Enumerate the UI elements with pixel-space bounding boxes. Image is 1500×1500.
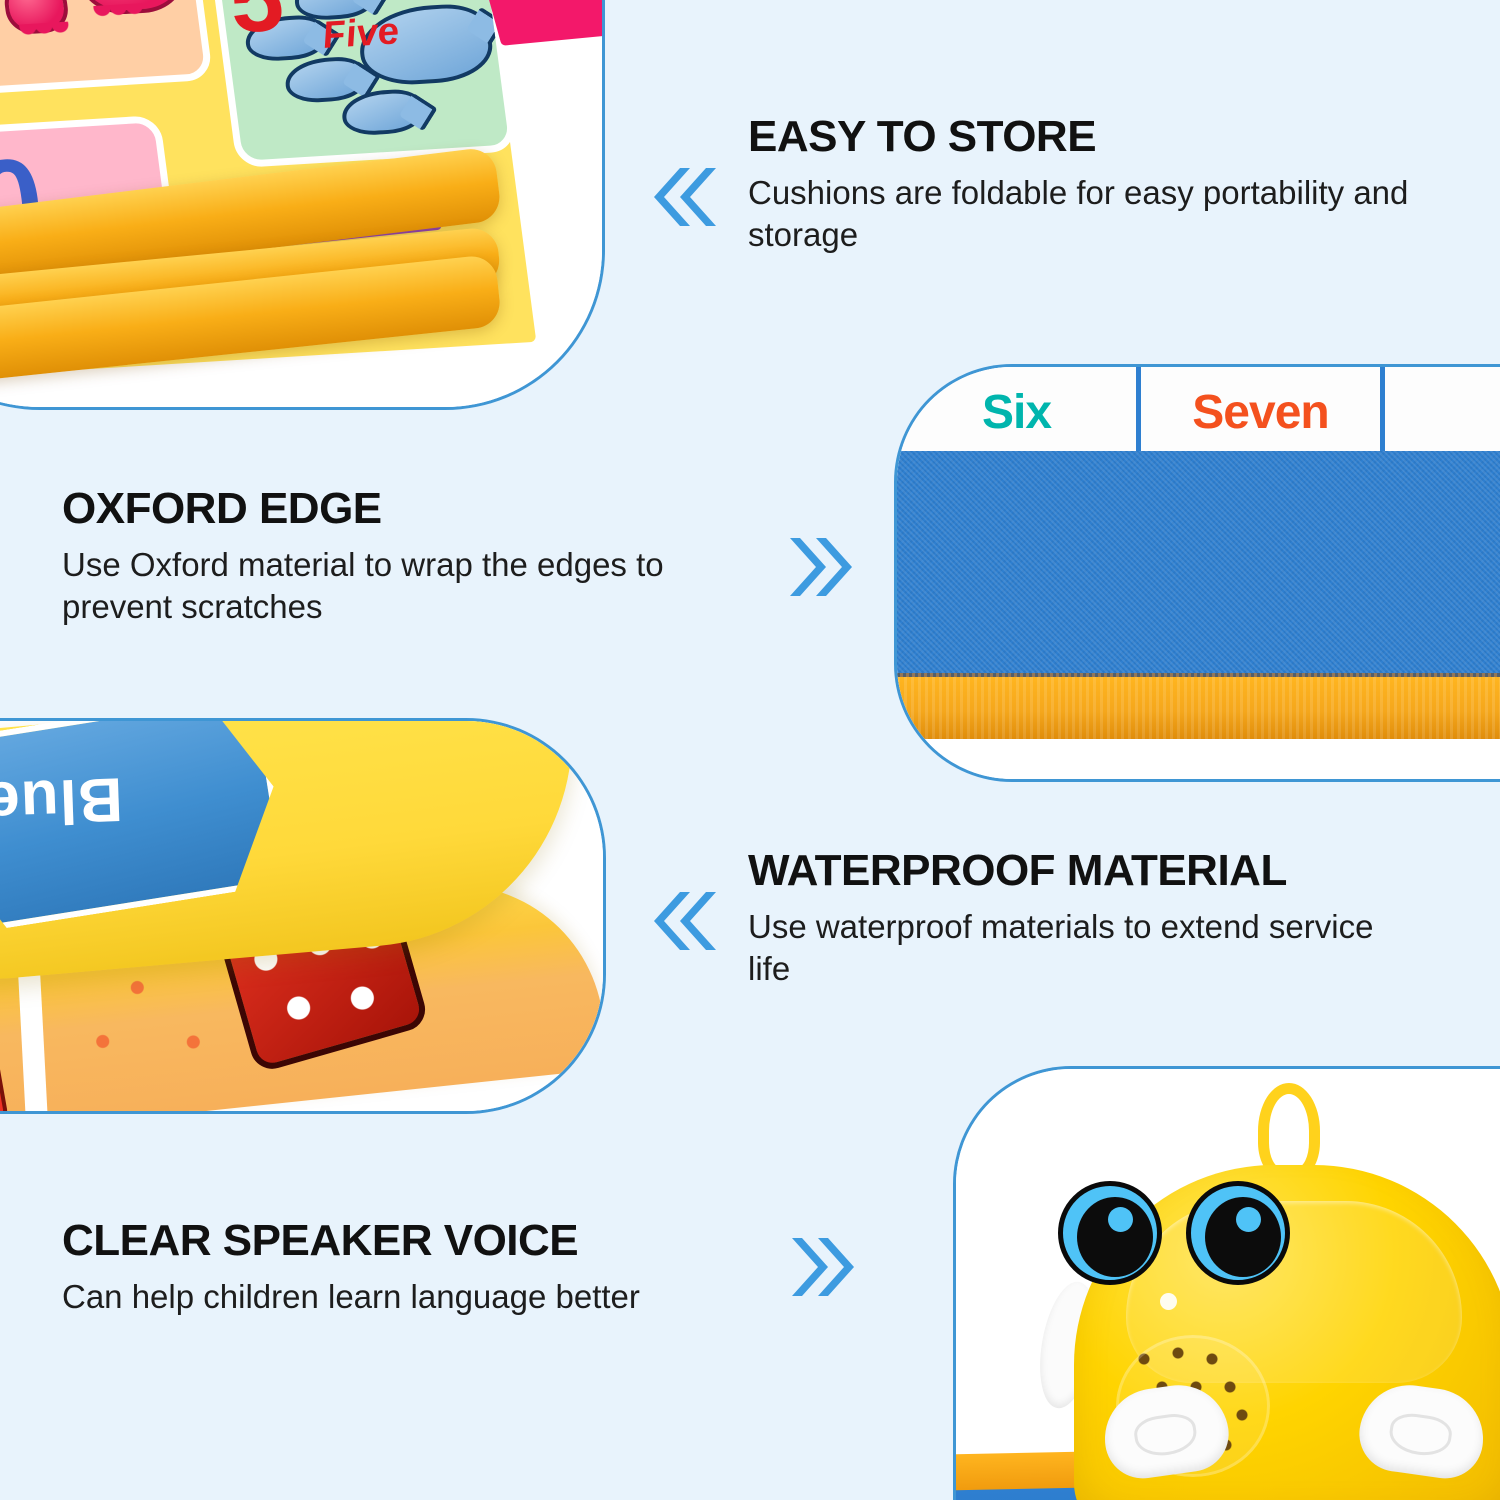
feature-image-easy-to-store: 4 Four 5 Five 10 — [0, 0, 605, 410]
eye-highlight-left — [1108, 1207, 1133, 1232]
folded-cushion-photo: 4 Four 5 Five 10 — [0, 0, 602, 407]
speaker-module-photo — [956, 1069, 1500, 1500]
feature-heading: CLEAR SPEAKER VOICE — [62, 1218, 752, 1264]
number-card-four — [0, 0, 213, 96]
feature-heading: OXFORD EDGE — [62, 486, 752, 532]
feature-image-waterproof-material: Blue — [0, 718, 606, 1114]
feature-heading: WATERPROOF MATERIAL — [748, 848, 1408, 894]
speaker-eye-left — [1058, 1181, 1162, 1285]
feature-text-oxford-edge: OXFORD EDGE Use Oxford material to wrap … — [62, 486, 752, 629]
number-word-five: Five — [320, 12, 401, 54]
feature-image-oxford-edge: Six Seven — [894, 364, 1500, 782]
infographic-canvas: 4 Four 5 Five 10 Six Seven — [0, 0, 1500, 1500]
feature-description: Cushions are foldable for easy portabili… — [748, 172, 1448, 256]
number-word-strip: Six Seven — [897, 367, 1500, 451]
button-emboss-left — [1132, 1411, 1199, 1459]
crayon-print — [0, 1050, 8, 1114]
word-card-blank — [1385, 367, 1500, 451]
word-card-seven: Seven — [1141, 367, 1385, 451]
color-word-blue: Blue — [0, 763, 124, 839]
double-chevron-right-icon — [790, 1236, 862, 1298]
double-chevron-right-icon — [788, 536, 860, 598]
feature-description: Use waterproof materials to extend servi… — [748, 906, 1408, 990]
oxford-edge-photo: Six Seven — [897, 367, 1500, 779]
double-chevron-left-icon — [646, 166, 718, 228]
oxford-binding-edge — [897, 677, 1500, 739]
feature-description: Use Oxford material to wrap the edges to… — [62, 544, 752, 628]
feature-description: Can help children learn language better — [62, 1276, 752, 1318]
feature-text-clear-speaker-voice: CLEAR SPEAKER VOICE Can help children le… — [62, 1218, 752, 1318]
double-chevron-left-icon — [646, 890, 718, 952]
feature-image-clear-speaker-voice — [953, 1066, 1500, 1500]
feature-text-easy-to-store: EASY TO STORE Cushions are foldable for … — [748, 114, 1448, 257]
blue-mat-body — [897, 451, 1500, 673]
speaker-nose-dot — [1160, 1293, 1177, 1310]
eye-highlight-right — [1236, 1207, 1261, 1232]
feature-heading: EASY TO STORE — [748, 114, 1448, 160]
word-card-six: Six — [897, 367, 1141, 451]
pink-accent-bar — [484, 0, 605, 46]
button-emboss-right — [1387, 1411, 1454, 1459]
feature-text-waterproof-material: WATERPROOF MATERIAL Use waterproof mater… — [748, 848, 1408, 991]
rolled-fabric-photo: Blue — [0, 721, 603, 1111]
speaker-eye-right — [1186, 1181, 1290, 1285]
